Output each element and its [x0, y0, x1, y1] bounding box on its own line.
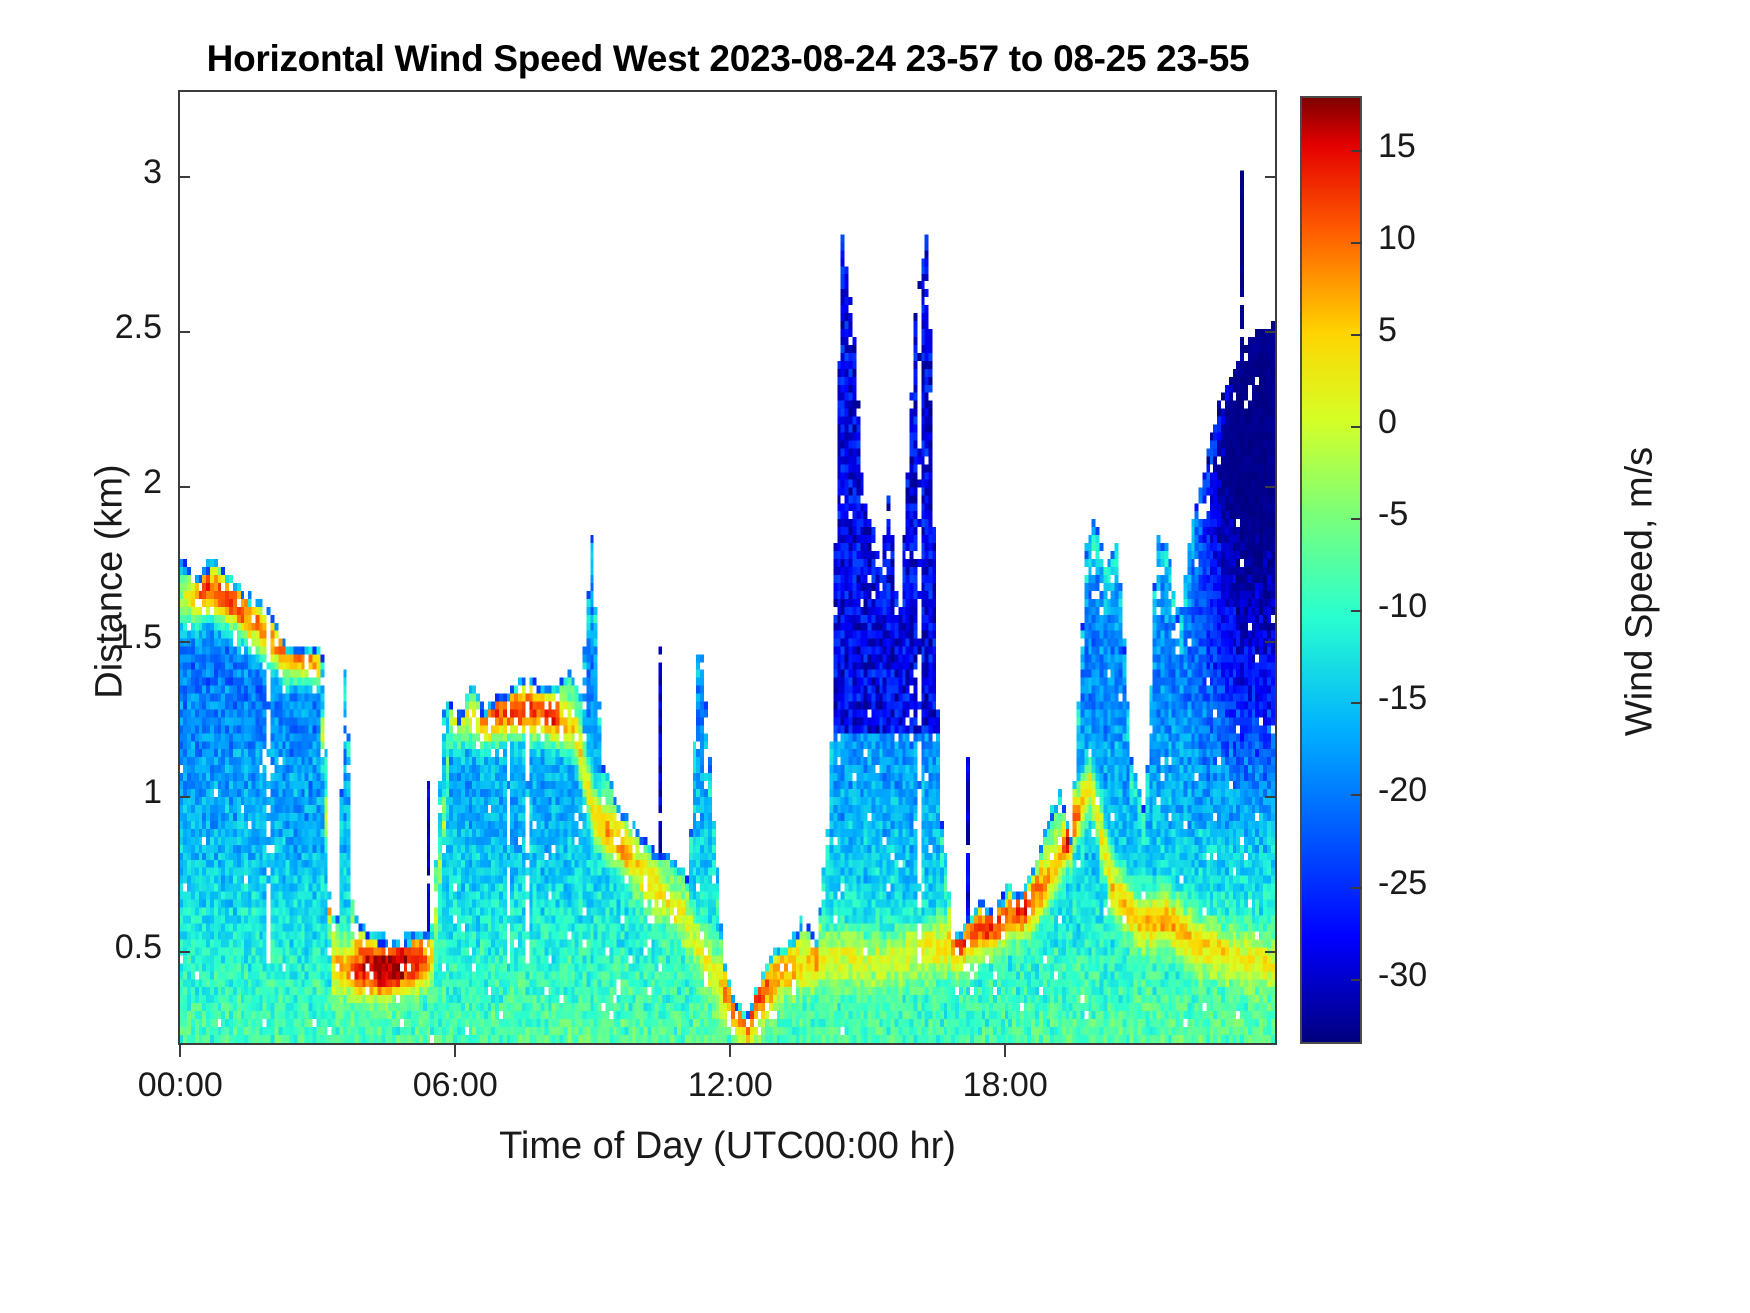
x-tick-mark	[454, 1045, 456, 1057]
colorbar-tick-mark	[1351, 426, 1362, 428]
heatmap-axes[interactable]	[178, 90, 1277, 1045]
y-tick-label: 3	[143, 153, 162, 192]
colorbar-tick-label: -15	[1378, 679, 1427, 718]
colorbar-tick-label: -25	[1378, 864, 1427, 903]
wind-speed-heatmap	[180, 92, 1275, 1043]
colorbar-tick-mark	[1351, 887, 1362, 889]
y-axis-label: Distance (km)	[89, 232, 132, 932]
y-tick-mark	[178, 641, 190, 643]
colorbar-tick-label: -20	[1378, 771, 1427, 810]
y-tick-label: 2	[143, 463, 162, 502]
y-tick-mark	[178, 796, 190, 798]
x-tick-label: 00:00	[138, 1066, 223, 1105]
y-tick-mark	[178, 486, 190, 488]
y-tick-mark-right	[1265, 951, 1277, 953]
x-tick-label: 06:00	[413, 1066, 498, 1105]
x-tick-label: 18:00	[963, 1066, 1048, 1105]
y-tick-mark-right	[1265, 641, 1277, 643]
colorbar-tick-mark	[1351, 334, 1362, 336]
x-tick-mark	[729, 1045, 731, 1057]
x-axis-label: Time of Day (UTC00:00 hr)	[178, 1125, 1277, 1168]
colorbar-tick-label: 0	[1378, 403, 1397, 442]
page-title: Horizontal Wind Speed West 2023-08-24 23…	[178, 38, 1278, 80]
y-tick-label: 0.5	[115, 928, 162, 967]
colorbar-gradient	[1302, 98, 1360, 1042]
colorbar-tick-label: 15	[1378, 127, 1416, 166]
colorbar-tick-label: -5	[1378, 495, 1408, 534]
y-tick-mark	[178, 176, 190, 178]
x-tick-mark	[1004, 1045, 1006, 1057]
colorbar-tick-mark	[1351, 979, 1362, 981]
colorbar-tick-mark	[1351, 242, 1362, 244]
colorbar-tick-label: 10	[1378, 219, 1416, 258]
colorbar[interactable]	[1300, 96, 1362, 1044]
colorbar-tick-label: -30	[1378, 956, 1427, 995]
colorbar-tick-mark	[1351, 518, 1362, 520]
colorbar-tick-mark	[1351, 794, 1362, 796]
colorbar-tick-mark	[1351, 702, 1362, 704]
colorbar-tick-label: 5	[1378, 311, 1397, 350]
y-tick-mark-right	[1265, 486, 1277, 488]
x-tick-label: 12:00	[688, 1066, 773, 1105]
y-tick-mark	[178, 951, 190, 953]
y-tick-label: 1	[143, 773, 162, 812]
y-tick-mark-right	[1265, 331, 1277, 333]
y-tick-mark-right	[1265, 796, 1277, 798]
colorbar-label: Wind Speed, m/s	[1619, 242, 1662, 942]
colorbar-tick-mark	[1351, 610, 1362, 612]
y-tick-mark	[178, 331, 190, 333]
colorbar-tick-mark	[1351, 150, 1362, 152]
y-tick-mark-right	[1265, 176, 1277, 178]
colorbar-tick-label: -10	[1378, 587, 1427, 626]
x-tick-mark	[179, 1045, 181, 1057]
figure-canvas: Horizontal Wind Speed West 2023-08-24 23…	[0, 0, 1750, 1313]
